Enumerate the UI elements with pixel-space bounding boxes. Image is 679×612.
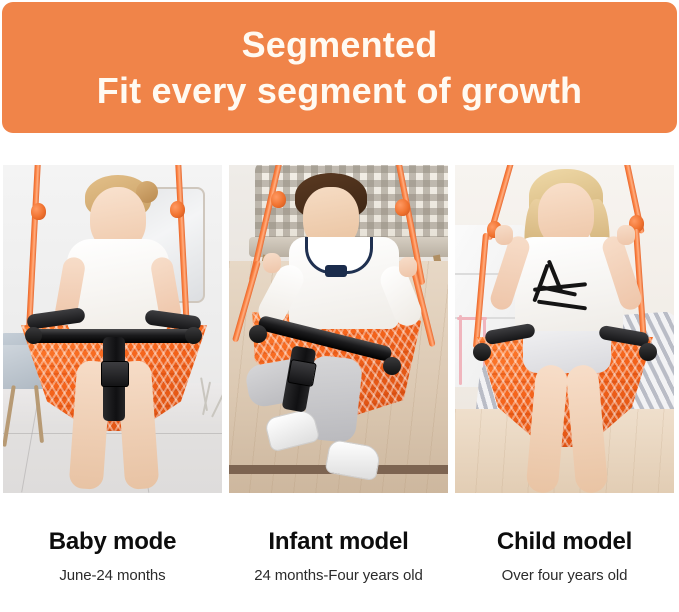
bow-tie — [325, 265, 347, 277]
scene-child-room — [455, 165, 674, 493]
harness-buckle — [287, 359, 317, 387]
banner-headline: Segmented — [242, 22, 438, 68]
caption-baby: Baby mode June-24 months — [3, 527, 222, 612]
safety-bar-cap-left — [25, 327, 42, 344]
child-hand-right — [617, 225, 635, 245]
caption-child: Child model Over four years old — [455, 527, 674, 612]
floor-tile-line — [3, 433, 222, 434]
product-photo-row — [0, 165, 679, 493]
child-shorts — [523, 331, 611, 373]
banner-subheadline: Fit every segment of growth — [97, 68, 582, 114]
caption-subtitle: June-24 months — [3, 566, 222, 586]
rope-knot-right — [395, 199, 410, 216]
seat-bar-cap-left — [473, 343, 491, 361]
rope-knot-right — [170, 201, 185, 218]
product-photo-infant — [229, 165, 448, 493]
scene-baby-room — [3, 165, 222, 493]
caption-subtitle: Over four years old — [455, 566, 674, 586]
child-hand-left — [495, 225, 513, 245]
caption-title: Infant model — [229, 527, 448, 557]
seat-bar-cap-right — [639, 343, 657, 361]
decor-plant — [190, 353, 220, 423]
child-hand-right — [399, 257, 417, 277]
caption-infant: Infant model 24 months-Four years old — [229, 527, 448, 612]
rope-knot-left — [271, 191, 286, 208]
product-photo-child — [455, 165, 674, 493]
child-hand-left — [263, 253, 281, 273]
caption-title: Baby mode — [3, 527, 222, 557]
harness-buckle — [101, 361, 129, 387]
caption-subtitle: 24 months-Four years old — [229, 566, 448, 586]
safety-bar-cap-right — [185, 327, 202, 344]
rope-knot-left — [31, 203, 46, 220]
scene-infant-room — [229, 165, 448, 493]
safety-bar-cap-right — [383, 357, 401, 375]
caption-row: Baby mode June-24 months Infant model 24… — [0, 527, 679, 612]
promo-banner: Segmented Fit every segment of growth — [2, 2, 677, 133]
product-photo-baby — [3, 165, 222, 493]
caption-title: Child model — [455, 527, 674, 557]
tshirt-graphic — [533, 259, 599, 313]
safety-bar-cap-left — [249, 325, 267, 343]
